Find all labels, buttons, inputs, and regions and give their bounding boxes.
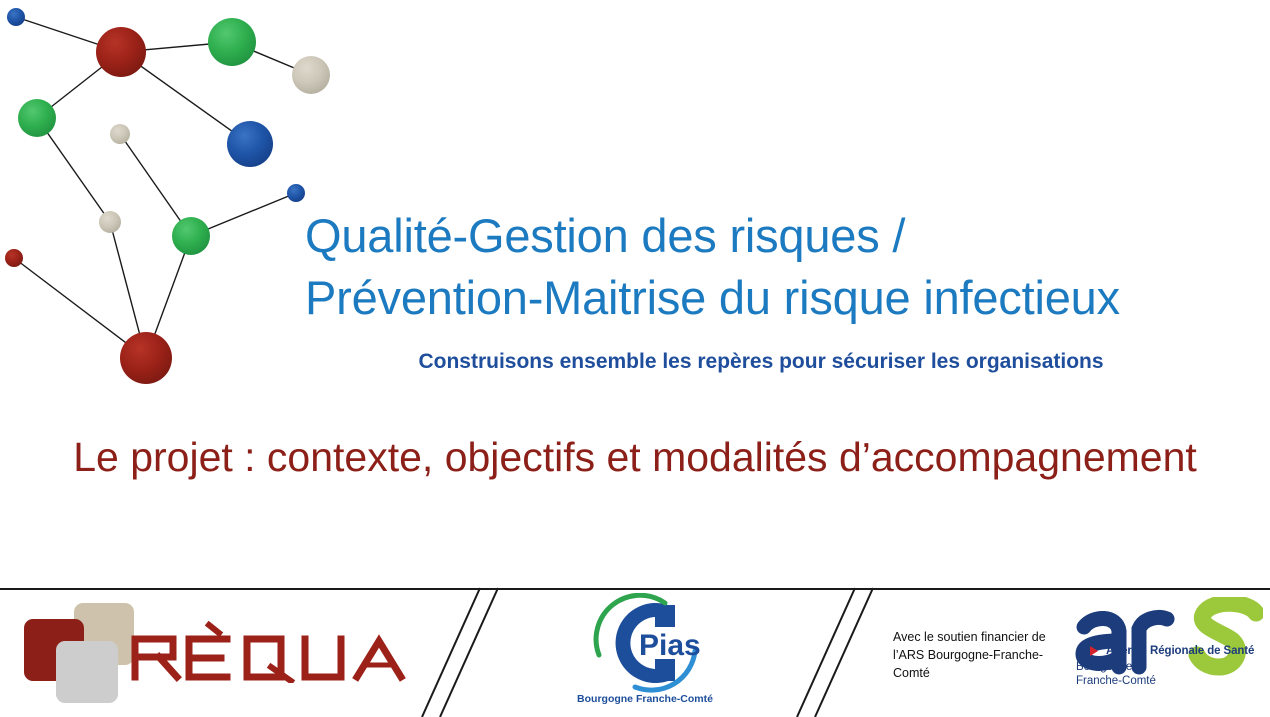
network-node-red — [96, 27, 146, 77]
network-edge — [37, 118, 110, 222]
network-edges — [14, 17, 311, 358]
section-title: Le projet : contexte, objectifs et modal… — [0, 434, 1270, 481]
footer-separator-1 — [400, 585, 520, 717]
footer: Pias Bourgogne Franche-Comté Avec le sou… — [0, 585, 1270, 717]
cpias-logo: Pias Bourgogne Franche-Comté — [565, 593, 725, 713]
network-node-blue — [227, 121, 273, 167]
requa-square-grey — [56, 641, 118, 703]
ars-logo: Agence Régionale de Santé Bourgogne- Fra… — [1073, 597, 1263, 709]
footer-separator-2 — [775, 585, 895, 717]
network-node-blue — [7, 8, 25, 26]
network-node-red — [5, 249, 23, 267]
footer-divider — [0, 588, 1270, 590]
ars-tagline-row: Agence Régionale de Santé — [1076, 645, 1254, 657]
page-title: Qualité-Gestion des risques / Prévention… — [305, 205, 1270, 329]
funding-note: Avec le soutien financier de l’ARS Bourg… — [893, 628, 1063, 682]
network-node-red — [120, 332, 172, 384]
subtitle: Construisons ensemble les repères pour s… — [316, 350, 1206, 374]
network-node-blue — [287, 184, 305, 202]
network-graphic — [0, 0, 340, 400]
network-nodes — [5, 8, 330, 384]
network-node-green — [18, 99, 56, 137]
network-node-beige — [99, 211, 121, 233]
title-line-2: Prévention-Maitrise du risque infectieux — [305, 267, 1270, 329]
ars-region: Bourgogne- Franche-Comté — [1076, 661, 1156, 688]
ars-region-line-2: Franche-Comté — [1076, 675, 1156, 689]
ars-region-line-1: Bourgogne- — [1076, 661, 1156, 675]
network-node-beige — [110, 124, 130, 144]
requa-logo — [14, 601, 414, 701]
network-node-green — [208, 18, 256, 66]
network-node-beige — [292, 56, 330, 94]
slide: Qualité-Gestion des risques / Prévention… — [0, 0, 1270, 717]
cpias-mark-icon: Pias — [577, 593, 717, 693]
svg-text:Pias: Pias — [639, 629, 701, 662]
ars-tagline: Agence Régionale de Santé — [1106, 645, 1254, 657]
title-line-1: Qualité-Gestion des risques / — [305, 205, 1270, 267]
network-node-green — [172, 217, 210, 255]
ars-bullet-icon — [1076, 645, 1102, 657]
cpias-caption: Bourgogne Franche-Comté — [565, 693, 725, 705]
requa-wordmark-icon — [129, 621, 414, 683]
